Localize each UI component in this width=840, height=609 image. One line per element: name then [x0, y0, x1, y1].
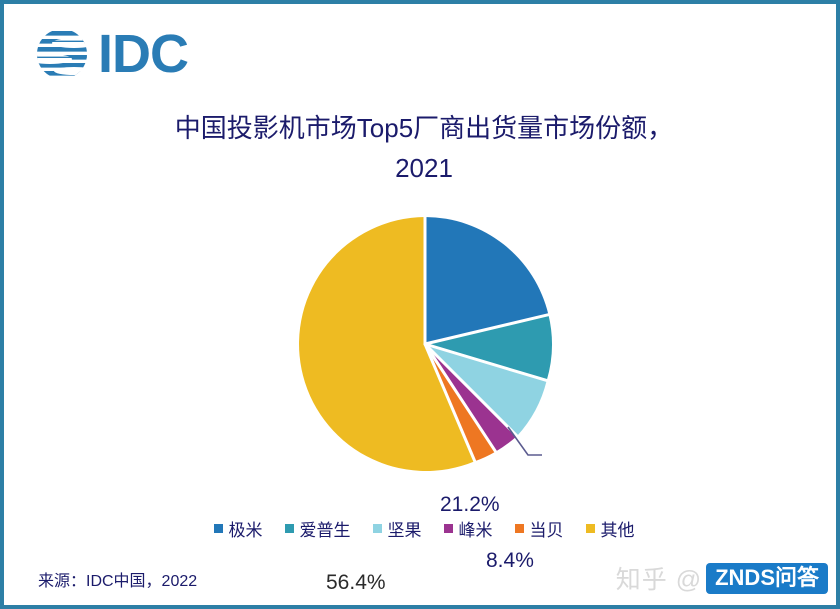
legend-item-label: 爱普生 — [300, 516, 351, 541]
chart-legend: 极米 爱普生 坚果 峰米 当贝 其他 — [4, 516, 840, 541]
legend-square-icon — [515, 524, 524, 533]
chart-image-frame: IDC 中国投影机市场Top5厂商出货量市场份额， 2021 — [0, 0, 840, 609]
pie-label-others: 56.4% — [326, 571, 386, 595]
pie-chart-svg — [290, 209, 560, 479]
legend-item-epson[interactable]: 爱普生 — [285, 516, 351, 541]
legend-square-icon — [373, 524, 382, 533]
pie-label-epson: 8.4% — [486, 549, 534, 573]
pie-label-jimi: 21.2% — [440, 493, 500, 517]
legend-item-label: 其他 — [601, 516, 635, 541]
idc-logo: IDC — [34, 26, 188, 82]
legend-item-fengmi[interactable]: 峰米 — [444, 516, 493, 541]
watermark-text: 知乎 @ — [616, 560, 702, 596]
idc-logo-text: IDC — [98, 27, 188, 81]
legend-item-dangbei[interactable]: 当贝 — [515, 516, 564, 541]
legend-item-label: 坚果 — [388, 516, 422, 541]
legend-square-icon — [285, 524, 294, 533]
legend-item-others[interactable]: 其他 — [586, 516, 635, 541]
pie-chart-plot-area: 21.2% 8.4% 7.5% 3.5% 3.0% 56.4% — [4, 209, 840, 499]
chart-title-line-2: 2021 — [124, 148, 724, 188]
idc-globe-icon — [34, 26, 90, 82]
legend-item-jimi[interactable]: 极米 — [214, 516, 263, 541]
chart-title-line-1: 中国投影机市场Top5厂商出货量市场份额， — [124, 108, 724, 148]
legend-square-icon — [214, 524, 223, 533]
legend-square-icon — [586, 524, 595, 533]
legend-item-jmgo[interactable]: 坚果 — [373, 516, 422, 541]
legend-item-label: 极米 — [229, 516, 263, 541]
page-title: 中国投影机市场Top5厂商出货量市场份额， 2021 — [124, 108, 724, 189]
legend-square-icon — [444, 524, 453, 533]
legend-item-label: 当贝 — [530, 516, 564, 541]
source-note: 来源：IDC中国，2022 — [38, 567, 197, 591]
legend-item-label: 峰米 — [459, 516, 493, 541]
chart-canvas: IDC 中国投影机市场Top5厂商出货量市场份额， 2021 — [4, 4, 836, 605]
znds-badge: ZNDS问答 — [706, 563, 828, 594]
watermark: 知乎 @ ZNDS问答 — [616, 560, 828, 596]
